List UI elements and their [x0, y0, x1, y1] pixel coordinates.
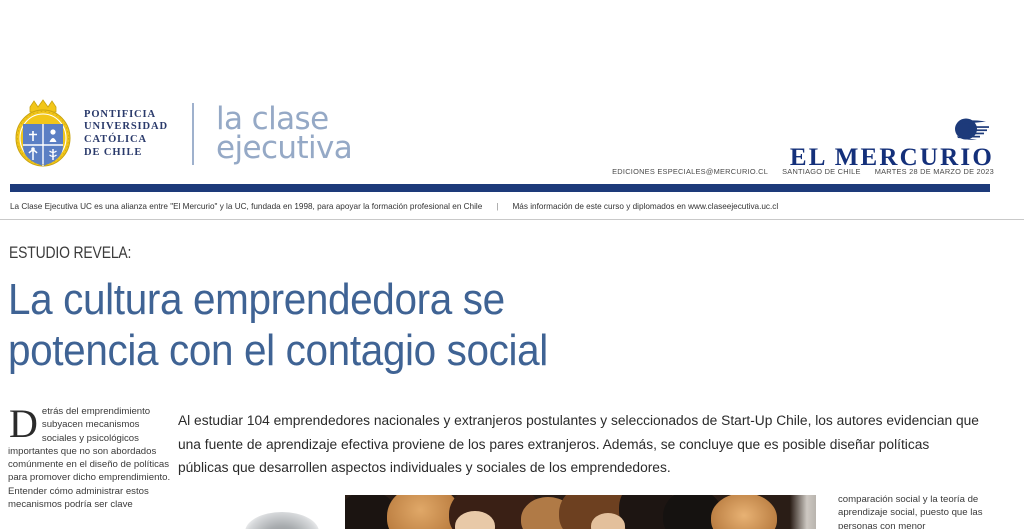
- hairline-rule: [0, 219, 1024, 220]
- clase-ejecutiva-logo[interactable]: la clase ejecutiva: [216, 105, 352, 163]
- circular-portrait: [245, 512, 319, 529]
- alliance-strip: La Clase Ejecutiva UC es una alianza ent…: [10, 201, 1014, 212]
- masthead-meta: EDICIONES ESPECIALES@MERCURIO.CL SANTIAG…: [612, 167, 994, 176]
- photo-edge-gradient: [790, 495, 816, 529]
- article-deck: Al estudiar 104 emprendedores nacionales…: [178, 410, 981, 481]
- article-column-left: D etrás del emprendimiento subyacen meca…: [8, 405, 171, 511]
- headline-line-1: La cultura emprendedora se: [8, 274, 689, 325]
- university-name: Pontificia Universidad Católica de Chile: [84, 109, 168, 159]
- masthead: Pontificia Universidad Católica de Chile…: [0, 0, 1024, 182]
- navy-rule: [10, 184, 990, 192]
- meta-email: EDICIONES ESPECIALES@MERCURIO.CL: [612, 167, 768, 176]
- el-mercurio-logo[interactable]: EL MERCURIO: [790, 118, 994, 170]
- university-line-1: Pontificia: [84, 109, 168, 122]
- photo-inner: [345, 495, 816, 529]
- article-photo: [345, 495, 816, 529]
- brand-lockup-left[interactable]: Pontificia Universidad Católica de Chile…: [12, 98, 352, 170]
- alliance-text: La Clase Ejecutiva UC es una alianza ent…: [10, 201, 482, 212]
- mercurio-globe-icon: [790, 118, 994, 144]
- uc-crest-icon: [12, 98, 74, 170]
- headline-line-2: potencia con el contagio social: [8, 325, 689, 376]
- article-column-right: comparación social y la teoría de aprend…: [838, 493, 1010, 529]
- meta-date: MARTES 28 DE MARZO DE 2023: [875, 167, 994, 176]
- newspaper-page: Pontificia Universidad Católica de Chile…: [0, 0, 1024, 529]
- university-line-4: de Chile: [84, 147, 168, 160]
- university-line-3: Católica: [84, 134, 168, 147]
- article-kicker: ESTUDIO REVELA:: [9, 243, 131, 263]
- article-headline: La cultura emprendedora se potencia con …: [8, 274, 689, 376]
- brand-divider: [192, 103, 194, 165]
- university-line-2: Universidad: [84, 121, 168, 134]
- alliance-separator: |: [496, 201, 498, 212]
- meta-city: SANTIAGO DE CHILE: [782, 167, 861, 176]
- alliance-more-info[interactable]: Más información de este curso y diplomad…: [512, 201, 778, 212]
- logo-line-2: ejecutiva: [216, 134, 352, 163]
- drop-cap: D: [8, 405, 42, 440]
